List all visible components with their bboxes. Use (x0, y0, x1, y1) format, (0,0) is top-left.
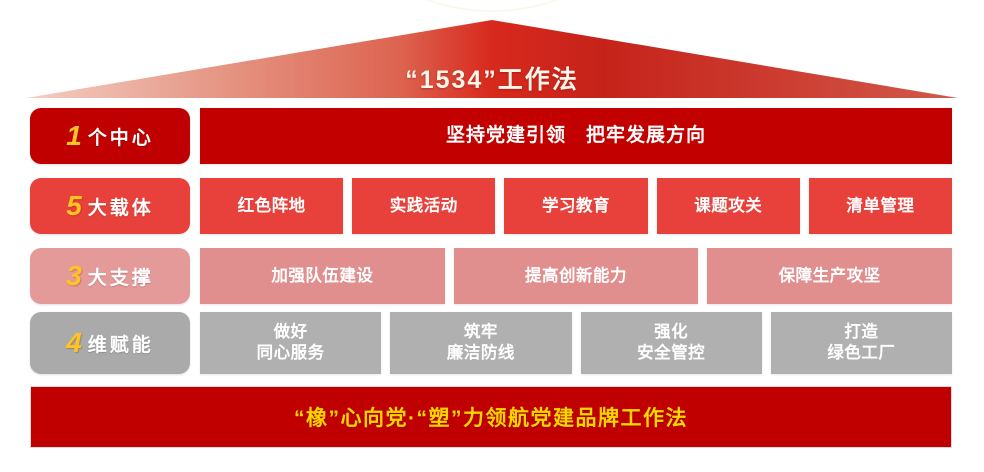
row-number-1: 1 (66, 122, 82, 150)
cell-2-5[interactable]: 清单管理 (809, 178, 952, 234)
row-label-2[interactable]: 5 大载体 (30, 178, 190, 234)
cell-3-3[interactable]: 保障生产攻坚 (707, 248, 952, 304)
row-number-4: 4 (66, 329, 82, 357)
cell-4-2[interactable]: 筑牢 廉洁防线 (390, 312, 571, 374)
row-label-text-4: 维赋能 (87, 330, 154, 357)
row-cells-1: 坚持党建引领 把牢发展方向 (200, 108, 952, 164)
cell-1-1[interactable]: 坚持党建引领 把牢发展方向 (200, 108, 952, 164)
cell-2-2[interactable]: 实践活动 (352, 178, 495, 234)
row-label-text-3: 大支撑 (87, 263, 154, 290)
cell-4-1[interactable]: 做好 同心服务 (200, 312, 381, 374)
footer-banner: “橡”心向党·“塑”力领航党建品牌工作法 (30, 386, 952, 448)
row-cells-3: 加强队伍建设 提高创新能力 保障生产攻坚 (200, 248, 952, 304)
pillar-row-4: 4 维赋能 做好 同心服务 筑牢 廉洁防线 强化 安全管控 打造 绿色工厂 (30, 312, 952, 374)
row-label-text-2: 大载体 (87, 193, 154, 220)
pillar-row-2: 5 大载体 红色阵地 实践活动 学习教育 课题攻关 清单管理 (30, 178, 952, 234)
row-cells-4: 做好 同心服务 筑牢 廉洁防线 强化 安全管控 打造 绿色工厂 (200, 312, 952, 374)
cell-4-1-text: 做好 同心服务 (257, 322, 325, 363)
pillar-row-3: 3 大支撑 加强队伍建设 提高创新能力 保障生产攻坚 (30, 248, 952, 304)
cell-4-3[interactable]: 强化 安全管控 (581, 312, 762, 374)
cell-4-4[interactable]: 打造 绿色工厂 (771, 312, 952, 374)
cell-3-2[interactable]: 提高创新能力 (454, 248, 699, 304)
arc-decoration-icon (377, 0, 607, 12)
cell-2-4[interactable]: 课题攻关 (657, 178, 800, 234)
row-label-4[interactable]: 4 维赋能 (30, 312, 190, 374)
cell-4-4-text: 打造 绿色工厂 (827, 322, 895, 363)
row-cells-2: 红色阵地 实践活动 学习教育 课题攻关 清单管理 (200, 178, 952, 234)
cell-2-3[interactable]: 学习教育 (504, 178, 647, 234)
infographic-root: “1534”工作法 1 个中心 坚持党建引领 把牢发展方向 5 大载体 红色阵地… (0, 0, 984, 472)
pillar-row-1: 1 个中心 坚持党建引领 把牢发展方向 (30, 108, 952, 164)
row-label-text-1: 个中心 (87, 123, 154, 150)
row-number-3: 3 (66, 262, 82, 290)
cell-4-2-text: 筑牢 廉洁防线 (447, 322, 515, 363)
row-number-2: 5 (66, 192, 82, 220)
roof-title: “1534”工作法 (26, 60, 958, 96)
roof-banner: “1534”工作法 (26, 20, 958, 100)
row-label-1[interactable]: 1 个中心 (30, 108, 190, 164)
cell-3-1[interactable]: 加强队伍建设 (200, 248, 445, 304)
cell-4-3-text: 强化 安全管控 (637, 322, 705, 363)
cell-2-1[interactable]: 红色阵地 (200, 178, 343, 234)
row-label-3[interactable]: 3 大支撑 (30, 248, 190, 304)
footer-title: “橡”心向党·“塑”力领航党建品牌工作法 (294, 402, 688, 432)
